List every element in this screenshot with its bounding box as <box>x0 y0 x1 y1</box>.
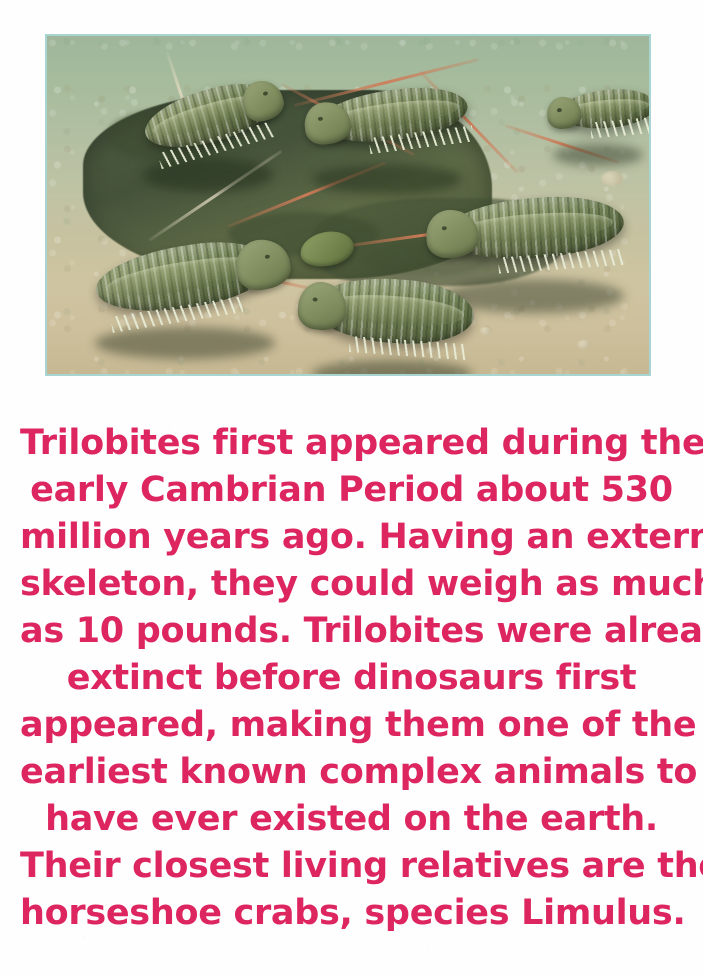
pebble <box>601 171 623 186</box>
fact-card-page: Trilobites first appeared during the ear… <box>0 0 703 976</box>
caption-text: Trilobites first appeared during the ear… <box>20 420 683 937</box>
trilobite-photo <box>45 34 651 376</box>
pebble <box>480 327 492 335</box>
trilobite-eye <box>442 226 447 230</box>
caption-line: skeleton, they could weigh as much <box>20 561 683 608</box>
trilobite-upper-right <box>557 86 649 132</box>
caption-line: Their closest living relatives are the <box>20 843 683 890</box>
trilobite-shadow <box>95 327 275 359</box>
caption-line: earliest known complex animals to <box>20 749 683 796</box>
trilobite-eye <box>263 91 269 96</box>
caption-line: Trilobites first appeared during the <box>20 420 683 467</box>
caption-line: appeared, making them one of the <box>20 702 683 749</box>
trilobite-eye <box>556 108 561 112</box>
caption-line: extinct before dinosaurs first <box>20 655 683 702</box>
trilobite-eye <box>318 117 323 122</box>
pebble <box>577 340 591 349</box>
trilobite-shadow <box>553 144 643 166</box>
trilobite-eye <box>265 254 271 259</box>
trilobite-bottom-center <box>310 274 476 349</box>
trilobite-eye <box>312 298 317 302</box>
caption-line: million years ago. Having an external <box>20 514 683 561</box>
caption-line: early Cambrian Period about 530 <box>20 467 683 514</box>
caption-line: have ever existed on the earth. <box>20 796 683 843</box>
caption-line: horseshoe crabs, species Limulus. <box>20 890 683 937</box>
photo-canvas <box>47 36 649 374</box>
trilobite-mid-right <box>442 192 626 264</box>
caption-line: as 10 pounds. Trilobites were already <box>20 608 683 655</box>
